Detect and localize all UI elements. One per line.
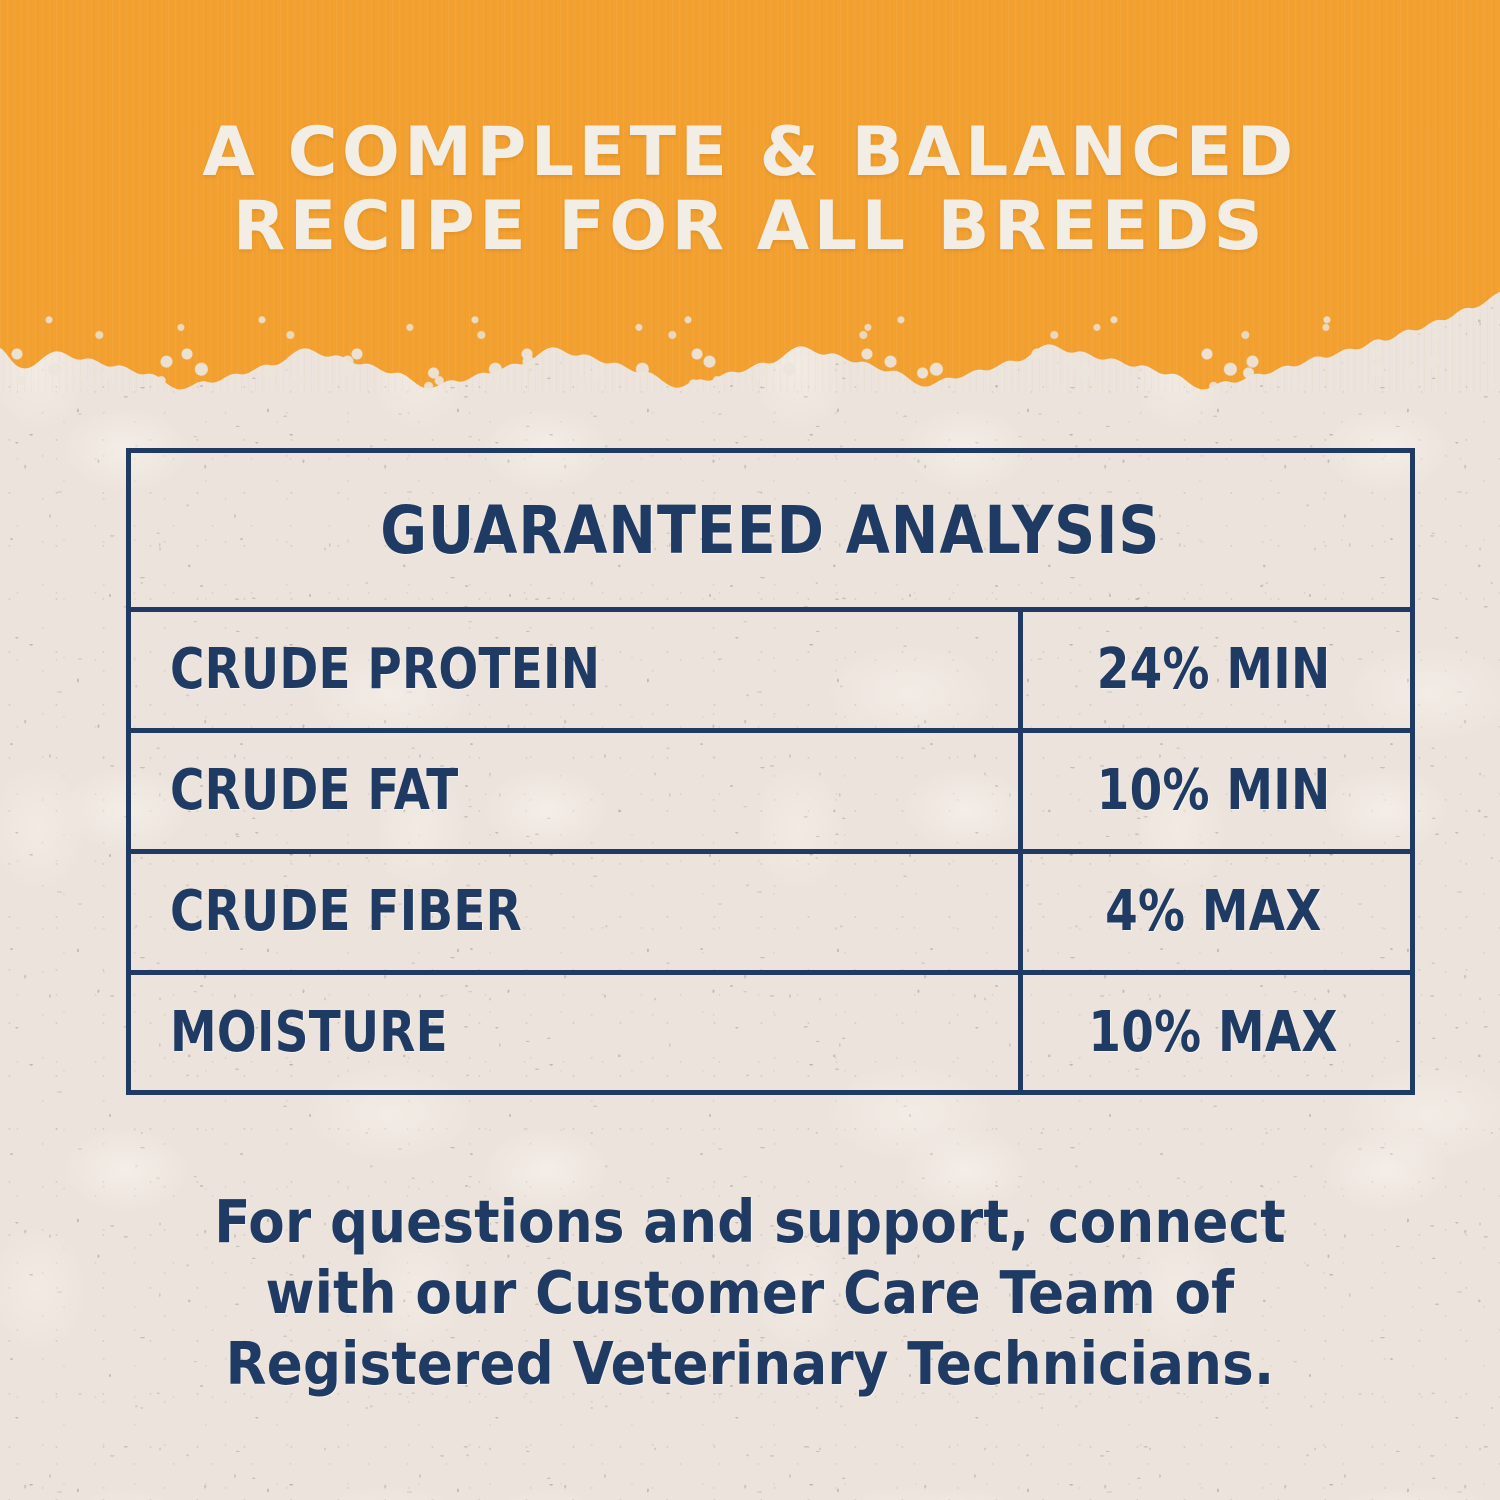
customer-care-note: For questions and support, connect with …	[120, 1186, 1380, 1399]
nutrient-label-cell: CRUDE PROTEIN	[131, 612, 1023, 728]
nutrient-value-cell: 10% MAX	[1023, 975, 1410, 1091]
nutrient-label: MOISTURE	[170, 1004, 448, 1062]
banner-headline: A COMPLETE & BALANCED RECIPE FOR ALL BRE…	[0, 116, 1500, 264]
nutrient-label: CRUDE FIBER	[170, 883, 522, 941]
nutrient-value: 24% MIN	[1097, 641, 1331, 699]
nutrient-label-cell: MOISTURE	[131, 975, 1023, 1091]
table-row: CRUDE FIBER 4% MAX	[131, 854, 1410, 975]
nutrient-value: 10% MIN	[1097, 762, 1331, 820]
nutrient-label: CRUDE PROTEIN	[170, 641, 600, 699]
table-row: CRUDE FAT 10% MIN	[131, 733, 1410, 854]
guaranteed-analysis-title: GUARANTEED ANALYSIS	[380, 492, 1160, 569]
nutrient-label-cell: CRUDE FAT	[131, 733, 1023, 849]
nutrient-value: 4% MAX	[1105, 883, 1322, 941]
nutrient-label-cell: CRUDE FIBER	[131, 854, 1023, 970]
table-row: MOISTURE 10% MAX	[131, 975, 1410, 1091]
product-info-panel: A COMPLETE & BALANCED RECIPE FOR ALL BRE…	[0, 0, 1500, 1500]
orange-banner: A COMPLETE & BALANCED RECIPE FOR ALL BRE…	[0, 0, 1500, 392]
nutrient-value: 10% MAX	[1089, 1004, 1338, 1062]
guaranteed-analysis-table: GUARANTEED ANALYSIS CRUDE PROTEIN 24% MI…	[126, 448, 1415, 1095]
nutrient-value-cell: 24% MIN	[1023, 612, 1410, 728]
guaranteed-analysis-header: GUARANTEED ANALYSIS	[131, 453, 1410, 612]
nutrient-value-cell: 10% MIN	[1023, 733, 1410, 849]
nutrient-value-cell: 4% MAX	[1023, 854, 1410, 970]
nutrient-label: CRUDE FAT	[170, 762, 458, 820]
table-row: CRUDE PROTEIN 24% MIN	[131, 612, 1410, 733]
